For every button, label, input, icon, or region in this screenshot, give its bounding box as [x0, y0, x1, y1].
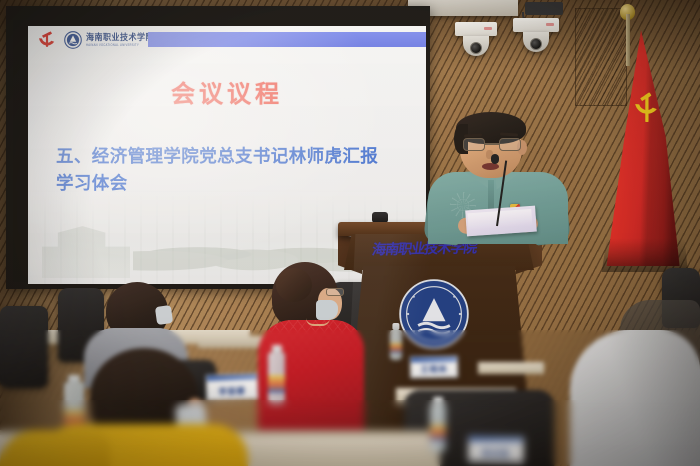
name-card: 李丽娜	[206, 373, 259, 401]
name-card-header-bar	[469, 437, 523, 443]
water-bottle-icon	[390, 330, 402, 360]
name-card-text: 陈志强	[482, 448, 509, 459]
face-mask-icon	[155, 305, 173, 325]
eyeglasses-icon	[326, 288, 344, 296]
slide-header-banner	[148, 32, 426, 47]
glasses-bridge	[485, 143, 499, 145]
office-chair	[0, 306, 48, 388]
camera-lens-icon	[530, 38, 542, 50]
slide-body-text: 五、经济管理学院党总支书记林师虎汇报 学习体会	[56, 144, 408, 198]
glasses-lens-right	[499, 138, 521, 151]
wall-acoustic-panel	[575, 8, 627, 106]
bottle-cap	[68, 375, 80, 382]
shirt-placket	[488, 180, 494, 210]
water-bottle-icon	[268, 352, 285, 404]
name-card: 陈志强	[468, 436, 524, 463]
slide-university-name: 海南职业技术学院 HAINAN VOCATIONAL UNIVERSITY	[86, 32, 154, 47]
hammer-and-sickle-icon	[628, 88, 664, 128]
name-card: 王晓林	[410, 356, 458, 379]
hammer-and-sickle-icon	[36, 31, 58, 49]
attendee-red-top-hair-bun	[276, 268, 312, 302]
bottle-cap	[271, 345, 281, 352]
flag-bottom-shadow	[598, 238, 688, 272]
name-card-text: 李丽娜	[218, 386, 245, 398]
slide-body-line-1: 五、经济管理学院党总支书记林师虎汇报	[56, 144, 408, 171]
slide-title: 会议议程	[28, 74, 426, 109]
bottle-label	[390, 343, 402, 353]
water-bottle-icon	[430, 404, 446, 452]
conference-table	[478, 362, 544, 374]
university-seal-icon	[398, 278, 470, 350]
university-name-en: HAINAN VOCATIONAL UNIVERSITY	[86, 44, 154, 48]
name-card-text: 王晓林	[420, 364, 447, 375]
flagpole	[626, 14, 630, 66]
ptz-camera-icon	[513, 18, 559, 52]
microphone-capsule	[491, 154, 499, 164]
bottle-label	[430, 425, 446, 441]
university-name-cn: 海南职业技术学院	[86, 32, 154, 44]
camera-body	[455, 22, 497, 36]
camera-head	[523, 32, 549, 52]
attendee-front-right-shading	[570, 330, 700, 466]
slide-body-line-2: 学习体会	[56, 171, 408, 198]
university-crest-icon	[64, 31, 82, 49]
camera-lens-icon	[470, 42, 482, 54]
camera-body	[513, 18, 559, 32]
camera-head	[463, 36, 489, 56]
bottle-cap	[433, 397, 443, 404]
speaker-presenter	[420, 112, 570, 244]
name-card-header-bar	[207, 374, 257, 381]
name-card-header-bar	[411, 357, 457, 363]
face-mask-icon	[316, 300, 338, 320]
speaker-mouth	[482, 163, 499, 170]
bottle-label	[268, 375, 285, 393]
eyeglasses-icon	[463, 138, 521, 151]
bottle-cap	[392, 323, 399, 330]
glasses-lens-left	[463, 138, 485, 151]
conference-hall-photo: 海南职业技术学院 HAINAN VOCATIONAL UNIVERSITY 会议…	[0, 0, 700, 466]
slide-header: 海南职业技术学院 HAINAN VOCATIONAL UNIVERSITY	[28, 26, 426, 53]
ptz-camera-icon	[455, 22, 497, 56]
attendee-far-left-yellow	[0, 430, 110, 466]
speech-papers	[465, 206, 537, 237]
